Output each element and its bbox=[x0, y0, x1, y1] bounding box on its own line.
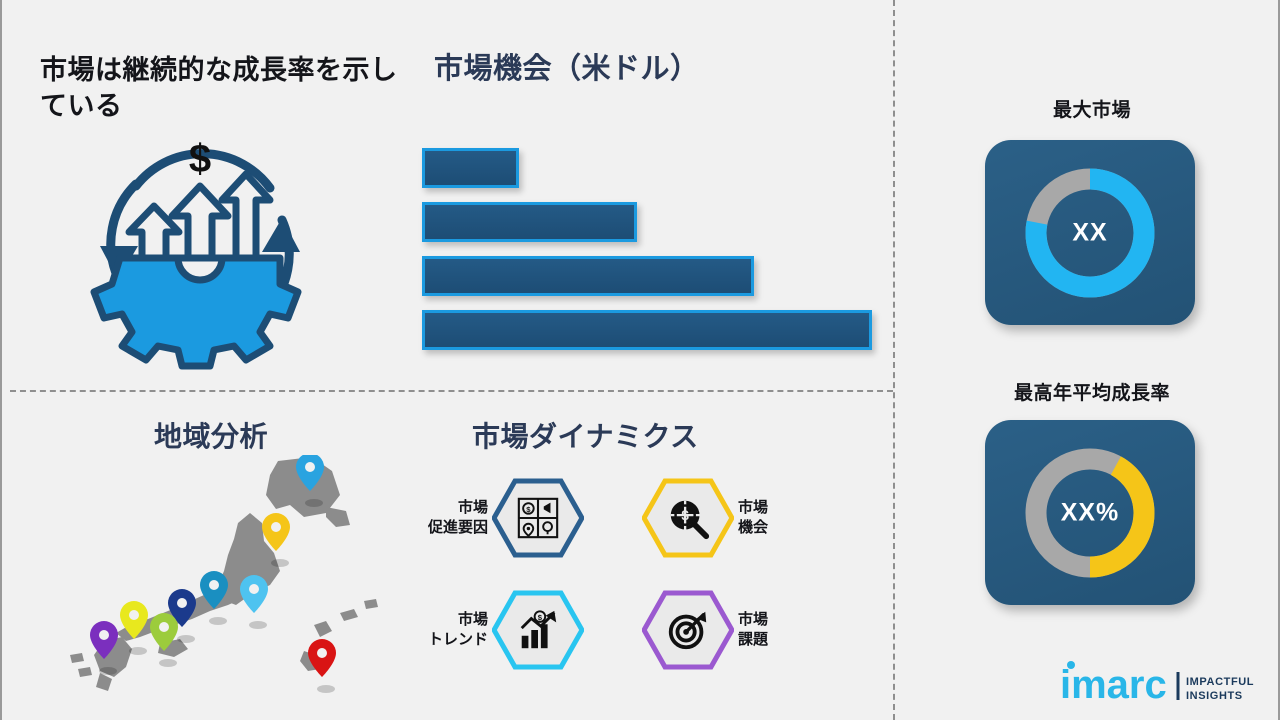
dynamics-item-challenges[interactable]: 市場 課題 bbox=[642, 590, 824, 670]
pin-chugoku bbox=[150, 613, 178, 667]
market-dynamics-group: 市場 促進要因 $ bbox=[402, 478, 862, 678]
dynamics-label-opportunities: 市場 機会 bbox=[738, 498, 824, 538]
bar-4 bbox=[422, 310, 872, 350]
hexagon-trends: $ bbox=[492, 590, 584, 670]
imarc-logo: imarc IMPACTFUL INSIGHTS bbox=[1060, 658, 1260, 706]
kpi-card-largest-market: XX bbox=[985, 140, 1195, 325]
japan-map bbox=[64, 455, 394, 705]
bar-2 bbox=[422, 202, 637, 242]
magnifier-dollar-icon: $ bbox=[665, 495, 711, 541]
dynamics-item-trends[interactable]: 市場 トレンド $ bbox=[402, 590, 584, 670]
bar-3 bbox=[422, 256, 754, 296]
svg-text:$: $ bbox=[526, 505, 531, 514]
dollar-symbol: $ bbox=[189, 137, 211, 181]
donut-chart-largest-market bbox=[1015, 158, 1165, 308]
dynamics-label-challenges: 市場 課題 bbox=[738, 610, 824, 650]
dynamics-item-opportunities[interactable]: $ 市場 機会 bbox=[642, 478, 824, 558]
dynamics-label-drivers: 市場 促進要因 bbox=[402, 498, 488, 538]
page-title-opportunity: 市場機会（米ドル） bbox=[434, 52, 854, 87]
dynamics-label-trends: 市場 トレンド bbox=[402, 610, 488, 650]
page-title-growth: 市場は継続的な成長率を示している bbox=[40, 52, 400, 125]
puzzle-pieces-icon: $ bbox=[515, 495, 561, 541]
horizontal-divider bbox=[10, 390, 893, 392]
hexagon-drivers: $ bbox=[492, 478, 584, 558]
hexagon-opportunities: $ bbox=[642, 478, 734, 558]
page-title-regional: 地域分析 bbox=[154, 420, 454, 454]
logo-wordmark: imarc bbox=[1060, 663, 1167, 706]
vertical-divider bbox=[893, 0, 895, 720]
slide-canvas: 市場は継続的な成長率を示している $ 市場機会（米ドル） 最大市場 XX 最高年… bbox=[0, 0, 1280, 720]
hexagon-challenges bbox=[642, 590, 734, 670]
market-opportunity-bar-chart bbox=[422, 148, 882, 348]
target-arrow-icon bbox=[665, 607, 711, 653]
bar-chart-growth-icon: $ bbox=[515, 607, 561, 653]
dynamics-item-drivers[interactable]: 市場 促進要因 $ bbox=[402, 478, 584, 558]
kpi-title-largest-market: 最大市場 bbox=[962, 95, 1222, 122]
pin-chubu bbox=[240, 575, 268, 629]
logo-tagline-line2: INSIGHTS bbox=[1186, 690, 1243, 702]
page-title-dynamics: 市場ダイナミクス bbox=[472, 420, 832, 454]
svg-text:$: $ bbox=[538, 613, 543, 622]
bar-1 bbox=[422, 148, 519, 188]
kpi-card-highest-cagr: XX% bbox=[985, 420, 1195, 605]
logo-tagline-line1: IMPACTFUL bbox=[1186, 676, 1254, 688]
kpi-title-highest-cagr: 最高年平均成長率 bbox=[952, 378, 1232, 405]
donut-chart-highest-cagr bbox=[1015, 438, 1165, 588]
growth-cycle-gear-icon: $ bbox=[74, 128, 326, 370]
